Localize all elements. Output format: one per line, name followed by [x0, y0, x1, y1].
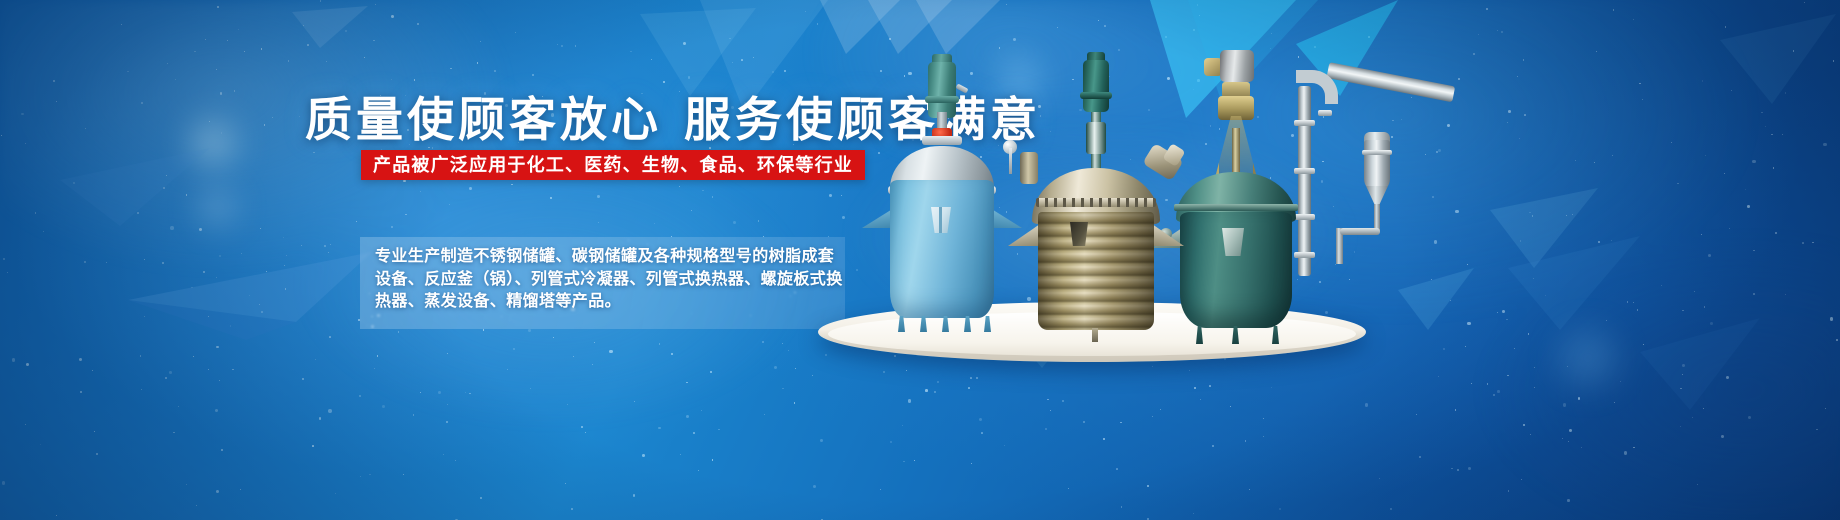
- reactor-bolt-ring-icon: [1036, 198, 1156, 207]
- reactor-flange-rim-icon: [1174, 204, 1298, 211]
- equipment-illustration: [780, 0, 1480, 520]
- reactor-flange-icon: [922, 136, 962, 145]
- reactor-nozzle-icon: [1020, 152, 1038, 184]
- receiver-drain-icon: [1374, 204, 1380, 230]
- pipe-tee-icon: [1318, 110, 1332, 116]
- reactor-motor-vent-icon: [956, 83, 969, 93]
- overhead-pipe-icon: [1326, 62, 1455, 102]
- reactor-motor-icon: [1220, 50, 1254, 82]
- pipe-flange-icon: [1294, 168, 1315, 174]
- reactor-motor-icon: [1083, 60, 1109, 112]
- reactor-bottom-drain-icon: [1092, 328, 1098, 342]
- pipe-flange-icon: [1294, 120, 1315, 126]
- reactor-sight-glass-icon: [1070, 222, 1088, 246]
- receiver-cone-icon: [1366, 186, 1388, 206]
- promo-banner: 质量使顾客放心服务使顾客满意 产品被广泛应用于化工、医药、生物、食品、环保等行业…: [0, 0, 1840, 520]
- reactor-gauge-stem-icon: [1009, 148, 1012, 174]
- vertical-pipe-icon: [1298, 86, 1311, 276]
- receiver-vessel-icon: [1364, 140, 1390, 192]
- reactor-shaft-seal-icon: [1086, 122, 1106, 154]
- pipe-flange-icon: [1294, 252, 1315, 258]
- reactor-jacket-coil-icon: [1038, 212, 1154, 330]
- description-text: 专业生产制造不锈钢储罐、碳钢储罐及各种规格型号的树脂成套设备、反应釜（锅）、列管…: [375, 246, 845, 314]
- pipe-flange-icon: [1294, 214, 1315, 220]
- reactor-motor-icon: [928, 62, 956, 118]
- reactor-sight-glass-icon: [1222, 228, 1244, 256]
- return-pipe-horizontal-icon: [1340, 228, 1380, 235]
- receiver-ring-icon: [1362, 150, 1392, 155]
- reactor-motor-coupling-icon: [925, 96, 959, 103]
- reactor-sight-glass-bar-icon: [939, 207, 942, 233]
- headline-part-1: 质量使顾客放心: [305, 93, 662, 146]
- reactor-shell-icon: [890, 180, 994, 318]
- reactor-motor-coupling-icon: [1080, 92, 1112, 99]
